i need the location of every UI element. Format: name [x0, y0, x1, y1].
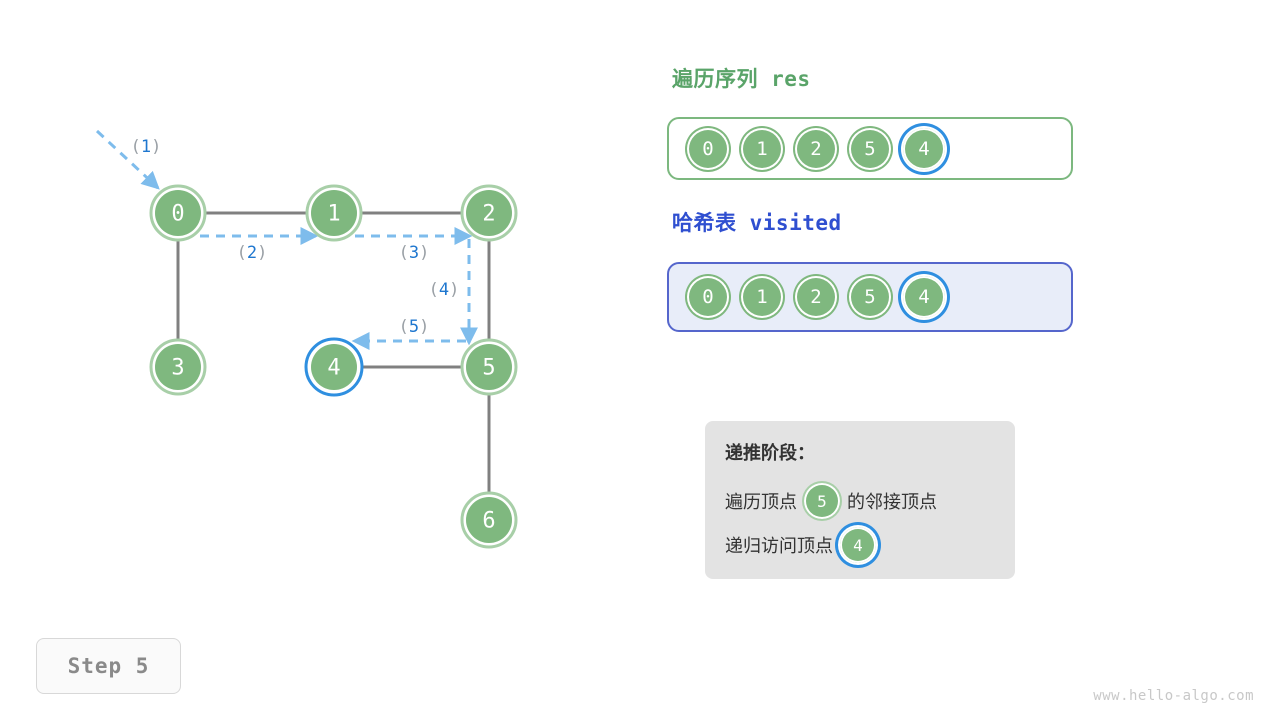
graph-node-6-label: 6 [482, 509, 495, 534]
info-card: 递推阶段： 遍历顶点 5 的邻接顶点 递归访问顶点 4 [705, 421, 1015, 579]
info-card-title: 递推阶段： [725, 439, 995, 465]
visited-item-4[interactable]: 4 [903, 276, 945, 318]
graph-node-0[interactable]: 0 [151, 186, 205, 240]
right-panel: 遍历序列 res 0 1 2 5 4 哈希表 visited 0 1 2 5 4… [667, 0, 1280, 720]
graph-node-5-label: 5 [482, 356, 495, 381]
graph-node-0-label: 0 [171, 202, 184, 227]
visited-item-0[interactable]: 0 [687, 276, 729, 318]
watermark: www.hello-algo.com [1093, 688, 1254, 704]
graph-node-4[interactable]: 4 [306, 339, 362, 395]
graph-nodes: 0 1 2 3 4 [151, 186, 516, 547]
visited-item-1[interactable]: 1 [741, 276, 783, 318]
visited-section-title: 哈希表 visited [672, 207, 842, 237]
res-item-2[interactable]: 2 [795, 128, 837, 170]
traversal-label-4: (4) [429, 280, 460, 300]
res-item-1[interactable]: 1 [741, 128, 783, 170]
graph-node-1[interactable]: 1 [307, 186, 361, 240]
info-line-1-chip: 5 [804, 483, 840, 519]
visited-item-3[interactable]: 5 [849, 276, 891, 318]
info-line-1-text-before: 遍历顶点 [725, 488, 797, 514]
traversal-label-5: (5) [399, 317, 430, 337]
traversal-arrows [97, 131, 470, 343]
info-card-line-2: 递归访问顶点 4 [725, 523, 995, 567]
res-item-4[interactable]: 4 [903, 128, 945, 170]
traversal-label-1: (1) [131, 137, 162, 157]
traversal-label-3: (3) [399, 243, 430, 263]
res-section-title: 遍历序列 res [672, 63, 811, 93]
graph-node-3[interactable]: 3 [151, 340, 205, 394]
graph-panel: (1) (2) (3) (4) (5) 0 1 2 [0, 0, 640, 720]
res-array-box: 0 1 2 5 4 [667, 117, 1073, 180]
graph-node-4-label: 4 [327, 356, 340, 381]
graph-node-2[interactable]: 2 [462, 186, 516, 240]
visited-set-box: 0 1 2 5 4 [667, 262, 1073, 332]
step-badge: Step 5 [36, 638, 181, 694]
graph-node-1-label: 1 [327, 202, 340, 227]
info-line-2-text-before: 递归访问顶点 [725, 532, 833, 558]
info-line-2-chip: 4 [840, 527, 876, 563]
info-card-line-1: 遍历顶点 5 的邻接顶点 [725, 479, 995, 523]
graph-node-2-label: 2 [482, 202, 495, 227]
traversal-label-2: (2) [237, 243, 268, 263]
graph-node-5[interactable]: 5 [462, 340, 516, 394]
visited-item-2[interactable]: 2 [795, 276, 837, 318]
graph-node-6[interactable]: 6 [462, 493, 516, 547]
res-item-3[interactable]: 5 [849, 128, 891, 170]
graph-canvas: (1) (2) (3) (4) (5) 0 1 2 [0, 0, 640, 720]
graph-node-3-label: 3 [171, 356, 184, 381]
res-item-0[interactable]: 0 [687, 128, 729, 170]
info-line-1-text-after: 的邻接顶点 [847, 488, 937, 514]
